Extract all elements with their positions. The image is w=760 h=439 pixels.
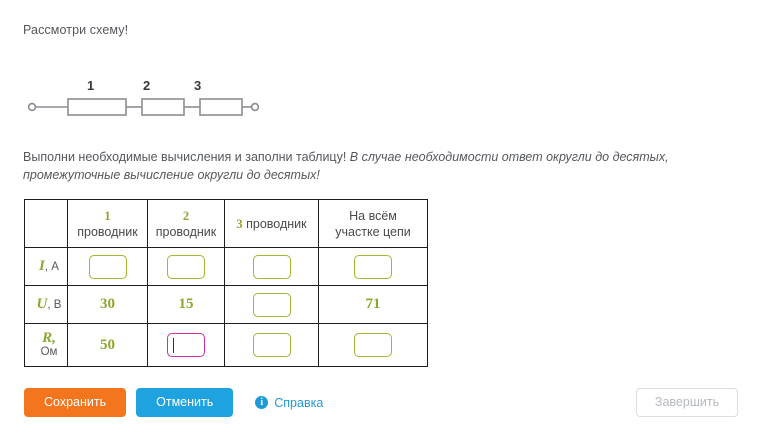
table-row-voltage: U, В 30 15 71 — [25, 286, 428, 324]
header-2-number: 2 — [148, 208, 224, 224]
value-voltage-conductor-1: 30 — [100, 296, 115, 312]
input-current-conductor-1[interactable] — [89, 255, 127, 279]
cell-current-conductor-1[interactable] — [68, 248, 148, 286]
row-label-voltage: U, В — [25, 286, 68, 324]
row-unit-U: , В — [47, 299, 61, 311]
cell-current-whole[interactable] — [319, 248, 428, 286]
header-corner-cell — [25, 200, 68, 248]
circuit-diagram: 1 2 3 — [24, 72, 264, 122]
resistor-3 — [200, 99, 242, 115]
resistor-2 — [142, 99, 184, 115]
row-symbol-U: U — [37, 296, 48, 312]
footer-actions: Сохранить Отменить i Справка — [24, 388, 323, 417]
header-3-word: проводник — [243, 217, 307, 231]
input-resistance-conductor-2[interactable] — [167, 333, 205, 357]
input-resistance-whole[interactable] — [354, 333, 392, 357]
row-symbol-R: R, — [42, 330, 56, 346]
info-icon: i — [255, 396, 268, 409]
header-2-word: проводник — [148, 224, 224, 240]
cell-resistance-conductor-2[interactable] — [148, 324, 225, 367]
cell-voltage-whole: 71 — [319, 286, 428, 324]
header-conductor-3: 3 проводник — [225, 200, 319, 248]
resistor-1-label: 1 — [87, 78, 94, 93]
header-whole-circuit: На всём участке цепи — [319, 200, 428, 248]
header-conductor-2: 2 проводник — [148, 200, 225, 248]
cell-resistance-conductor-3[interactable] — [225, 324, 319, 367]
resistor-2-label: 2 — [143, 78, 150, 93]
cell-current-conductor-2[interactable] — [148, 248, 225, 286]
header-1-number: 1 — [68, 208, 147, 224]
row-label-resistance: R, Ом — [25, 324, 68, 367]
resistor-3-label: 3 — [194, 78, 201, 93]
finish-button[interactable]: Завершить — [636, 388, 738, 417]
input-resistance-conductor-3[interactable] — [253, 333, 291, 357]
table-row-current: I, А — [25, 248, 428, 286]
value-voltage-conductor-2: 15 — [179, 296, 194, 312]
header-whole-line1: На всём — [319, 208, 427, 224]
cell-voltage-conductor-3[interactable] — [225, 286, 319, 324]
value-resistance-conductor-1: 50 — [100, 337, 115, 353]
task-statement: Выполни необходимые вычисления и заполни… — [23, 148, 743, 184]
cell-voltage-conductor-2: 15 — [148, 286, 225, 324]
value-voltage-whole: 71 — [366, 296, 381, 312]
task-line1-italic: В случае необходимости ответ округли до … — [346, 150, 668, 164]
row-unit-R: Ом — [31, 345, 67, 359]
terminal-left — [29, 104, 36, 111]
input-voltage-conductor-3[interactable] — [253, 293, 291, 317]
cancel-button[interactable]: Отменить — [136, 388, 233, 417]
header-1-word: проводник — [68, 224, 147, 240]
input-current-whole[interactable] — [354, 255, 392, 279]
help-label: Справка — [274, 396, 323, 410]
row-unit-I: , А — [45, 261, 59, 273]
table-header-row: 1 проводник 2 проводник 3 проводник На в… — [25, 200, 428, 248]
resistor-1 — [68, 99, 126, 115]
cell-voltage-conductor-1: 30 — [68, 286, 148, 324]
header-conductor-1: 1 проводник — [68, 200, 148, 248]
header-whole-line2: участке цепи — [319, 224, 427, 240]
help-link[interactable]: i Справка — [255, 396, 323, 410]
cell-current-conductor-3[interactable] — [225, 248, 319, 286]
task-line2-italic: промежуточные вычисление округли до деся… — [23, 168, 320, 182]
page-intro-text: Рассмотри схему! — [23, 23, 128, 37]
answers-table: 1 проводник 2 проводник 3 проводник На в… — [24, 199, 428, 367]
answers-table-wrapper: 1 проводник 2 проводник 3 проводник На в… — [24, 199, 428, 367]
cell-resistance-whole[interactable] — [319, 324, 428, 367]
table-row-resistance: R, Ом 50 — [25, 324, 428, 367]
terminal-right — [252, 104, 259, 111]
cell-resistance-conductor-1: 50 — [68, 324, 148, 367]
input-current-conductor-2[interactable] — [167, 255, 205, 279]
task-line1-plain: Выполни необходимые вычисления и заполни… — [23, 150, 346, 164]
save-button[interactable]: Сохранить — [24, 388, 126, 417]
circuit-svg: 1 2 3 — [24, 72, 264, 122]
input-current-conductor-3[interactable] — [253, 255, 291, 279]
row-label-current: I, А — [25, 248, 68, 286]
